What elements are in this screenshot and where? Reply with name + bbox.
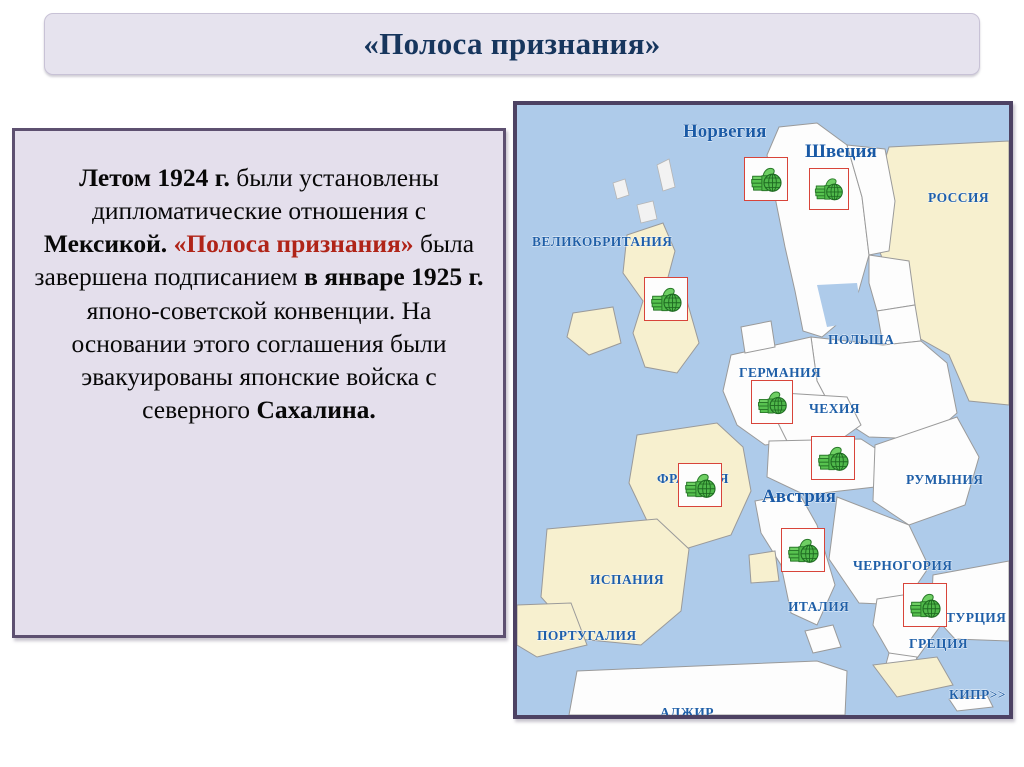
hand-globe-icon — [755, 385, 790, 420]
hand-globe-icon — [785, 532, 822, 569]
hand-globe-icon — [748, 161, 785, 198]
body-segment: «Полоса признания» — [174, 229, 420, 258]
hand-globe-icon — [815, 440, 852, 477]
recognition-marker — [644, 277, 688, 321]
page-title: «Полоса признания» — [363, 26, 660, 62]
body-segment: Сахалина. — [256, 395, 375, 424]
recognition-marker — [811, 436, 855, 480]
hand-globe-icon — [812, 172, 846, 206]
recognition-marker — [781, 528, 825, 572]
europe-map-panel: .land { fill:#fdfdfd; stroke:#9a9a9a; st… — [513, 101, 1013, 719]
body-paragraph: Летом 1924 г. были установлены дипломати… — [31, 161, 487, 426]
recognition-marker — [903, 583, 947, 627]
body-segment: в январе 1925 г. — [304, 262, 483, 291]
recognition-marker — [809, 168, 849, 210]
body-segment: Мексикой. — [44, 229, 167, 258]
recognition-marker — [751, 380, 793, 424]
recognition-marker — [678, 463, 722, 507]
hand-globe-icon — [682, 467, 719, 504]
content-text-panel: Летом 1924 г. были установлены дипломати… — [12, 128, 506, 638]
body-segment: Летом 1924 г. — [79, 163, 236, 192]
recognition-marker — [744, 157, 788, 201]
hand-globe-icon — [648, 281, 685, 318]
slide-title-box: «Полоса признания» — [44, 13, 980, 75]
hand-globe-icon — [907, 587, 944, 624]
